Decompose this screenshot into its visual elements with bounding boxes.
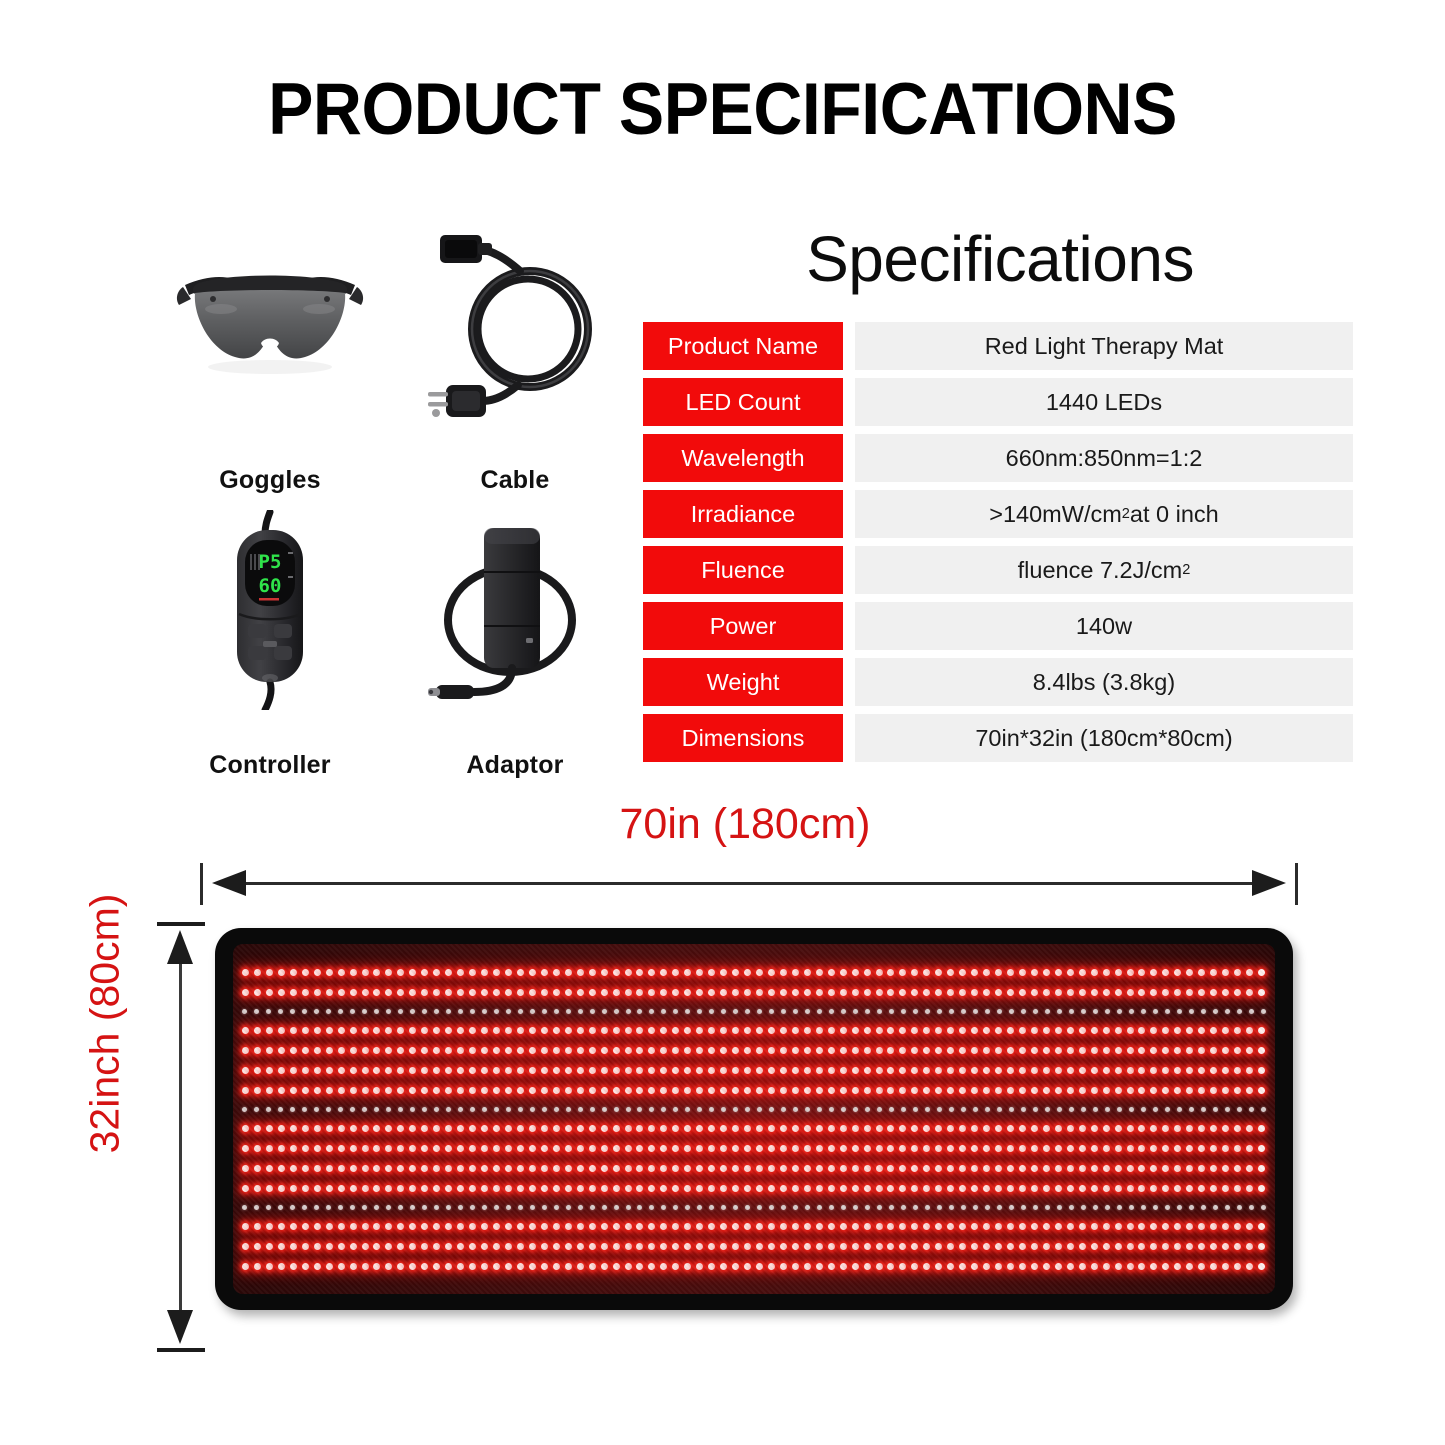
led-dot xyxy=(577,1125,584,1132)
led-dot xyxy=(1067,969,1074,976)
led-dot xyxy=(997,1009,1002,1014)
led-dot xyxy=(589,1165,596,1172)
led-dot xyxy=(278,1087,285,1094)
led-dot xyxy=(1174,989,1181,996)
led-dot xyxy=(1174,1263,1181,1270)
width-dimension-label: 70in (180cm) xyxy=(395,800,1095,849)
led-dot xyxy=(314,1067,321,1074)
led-dot xyxy=(1141,1205,1146,1210)
led-dot xyxy=(493,1243,500,1250)
led-dot xyxy=(1201,1205,1206,1210)
led-dot xyxy=(1081,1107,1086,1112)
led-dot xyxy=(1117,1107,1122,1112)
led-dot xyxy=(541,989,548,996)
led-dot xyxy=(290,1185,297,1192)
led-dot xyxy=(1138,1067,1145,1074)
led-dot xyxy=(302,1243,309,1250)
led-dot xyxy=(744,1027,751,1034)
led-dot xyxy=(660,1223,667,1230)
led-dot xyxy=(445,1165,452,1172)
led-dot xyxy=(660,1145,667,1152)
led-dot xyxy=(697,1107,702,1112)
led-dot xyxy=(434,1205,439,1210)
led-dot xyxy=(566,1009,571,1014)
led-dot xyxy=(1091,1243,1098,1250)
led-dot xyxy=(625,989,632,996)
led-dot xyxy=(553,1027,560,1034)
led-dot xyxy=(457,1047,464,1054)
led-dot xyxy=(433,969,440,976)
led-dot xyxy=(660,1047,667,1054)
led-dot xyxy=(828,1145,835,1152)
led-dot xyxy=(947,1027,954,1034)
led-dot xyxy=(768,969,775,976)
led-dot xyxy=(409,1027,416,1034)
led-dot xyxy=(242,1107,247,1112)
led-dot xyxy=(626,1205,631,1210)
led-dot xyxy=(1115,1027,1122,1034)
led-dot xyxy=(445,1067,452,1074)
accessory-label: Cable xyxy=(400,466,630,495)
led-dot xyxy=(685,1009,690,1014)
led-dot xyxy=(684,1027,691,1034)
led-dot xyxy=(899,1263,906,1270)
led-dot xyxy=(374,1009,379,1014)
led-dot xyxy=(865,1009,870,1014)
led-dot xyxy=(374,1107,379,1112)
led-dot xyxy=(493,1125,500,1132)
led-dot xyxy=(338,989,345,996)
led-dot xyxy=(565,969,572,976)
led-dot xyxy=(852,1223,859,1230)
led-dot xyxy=(290,1165,297,1172)
led-dot xyxy=(1198,1087,1205,1094)
led-dot xyxy=(1261,1107,1266,1112)
led-dot xyxy=(780,1027,787,1034)
led-dot xyxy=(876,1145,883,1152)
led-dot xyxy=(278,969,285,976)
led-dot xyxy=(829,1009,834,1014)
accessory-label: Controller xyxy=(155,751,385,780)
led-dot xyxy=(1103,1145,1110,1152)
led-dot xyxy=(816,989,823,996)
led-dot xyxy=(660,1087,667,1094)
led-dot xyxy=(385,969,392,976)
led-dot xyxy=(1115,989,1122,996)
led-dot xyxy=(421,1243,428,1250)
led-dot xyxy=(792,1027,799,1034)
led-dot xyxy=(1057,1009,1062,1014)
led-dot xyxy=(1186,1223,1193,1230)
led-dot xyxy=(696,1223,703,1230)
led-dot xyxy=(457,969,464,976)
led-dot xyxy=(1177,1107,1182,1112)
led-dot xyxy=(1258,1243,1265,1250)
led-dot xyxy=(816,1243,823,1250)
led-dot xyxy=(1079,989,1086,996)
led-dot xyxy=(601,1047,608,1054)
led-dot xyxy=(1067,1067,1074,1074)
led-dot xyxy=(254,969,261,976)
led-dot xyxy=(684,1125,691,1132)
led-dot xyxy=(458,1009,463,1014)
led-dot xyxy=(804,1125,811,1132)
led-dot xyxy=(397,1223,404,1230)
led-dot xyxy=(876,989,883,996)
led-dot xyxy=(625,1125,632,1132)
led-dot xyxy=(362,1243,369,1250)
led-dot xyxy=(1127,1165,1134,1172)
led-dot xyxy=(1249,1205,1254,1210)
led-dot xyxy=(636,1027,643,1034)
led-dot xyxy=(911,1185,918,1192)
led-dot xyxy=(362,1009,367,1014)
led-dot xyxy=(385,1243,392,1250)
led-dot xyxy=(350,1263,357,1270)
led-dot xyxy=(983,1067,990,1074)
led-dot xyxy=(1189,1009,1194,1014)
led-dot xyxy=(744,989,751,996)
dimension-tick-bottom xyxy=(157,1348,205,1352)
led-dot xyxy=(995,1243,1002,1250)
led-dot xyxy=(973,1009,978,1014)
led-dot xyxy=(899,1223,906,1230)
led-dot xyxy=(362,1145,369,1152)
led-dot xyxy=(373,969,380,976)
led-dot xyxy=(696,989,703,996)
led-dot xyxy=(709,1107,714,1112)
spec-key: Dimensions xyxy=(643,714,843,762)
led-dot xyxy=(565,1145,572,1152)
led-dot xyxy=(302,969,309,976)
led-dot xyxy=(1222,1185,1229,1192)
led-dot xyxy=(853,1107,858,1112)
led-dot xyxy=(421,1145,428,1152)
led-dot xyxy=(1174,1243,1181,1250)
led-dot xyxy=(660,969,667,976)
led-dot xyxy=(266,1107,271,1112)
led-dot xyxy=(338,1145,345,1152)
led-dot xyxy=(732,1027,739,1034)
led-dot xyxy=(302,1087,309,1094)
led-dot xyxy=(828,1047,835,1054)
led-dot xyxy=(1138,1185,1145,1192)
led-dot xyxy=(469,1145,476,1152)
led-dot xyxy=(1103,1223,1110,1230)
led-dot xyxy=(959,1263,966,1270)
led-dot xyxy=(1150,1223,1157,1230)
led-dot xyxy=(326,1027,333,1034)
led-dot xyxy=(1067,1243,1074,1250)
led-dot xyxy=(708,989,715,996)
led-dot xyxy=(1150,1243,1157,1250)
led-dot xyxy=(768,1223,775,1230)
led-dot xyxy=(469,1263,476,1270)
led-dot xyxy=(1234,1125,1241,1132)
led-dot xyxy=(553,1223,560,1230)
led-row-red xyxy=(233,1243,1275,1250)
led-dot xyxy=(756,1145,763,1152)
led-dot xyxy=(829,1205,834,1210)
led-dot xyxy=(422,1205,427,1210)
safety-goggles-icon xyxy=(155,225,385,425)
led-dot xyxy=(983,1145,990,1152)
led-dot xyxy=(732,969,739,976)
led-dot xyxy=(242,1027,249,1034)
led-dot xyxy=(708,1185,715,1192)
led-dot xyxy=(481,1165,488,1172)
led-dot xyxy=(433,1125,440,1132)
led-dot xyxy=(1198,969,1205,976)
led-dot xyxy=(1043,1263,1050,1270)
led-dot xyxy=(338,1067,345,1074)
led-dot xyxy=(314,1165,321,1172)
led-dot xyxy=(1210,1243,1217,1250)
led-dot xyxy=(445,1087,452,1094)
led-dot xyxy=(529,1263,536,1270)
led-dot xyxy=(1186,1145,1193,1152)
led-dot xyxy=(899,989,906,996)
led-dot xyxy=(1234,1145,1241,1152)
led-dot xyxy=(493,1263,500,1270)
led-dot xyxy=(1138,1047,1145,1054)
led-dot xyxy=(720,1087,727,1094)
led-dot xyxy=(995,1145,1002,1152)
spec-value: 8.4lbs (3.8kg) xyxy=(855,658,1353,706)
led-dot xyxy=(469,989,476,996)
led-dot xyxy=(672,1263,679,1270)
led-dot xyxy=(446,1107,451,1112)
led-dot xyxy=(242,1263,249,1270)
led-dot xyxy=(314,1263,321,1270)
led-dot xyxy=(278,989,285,996)
led-dot xyxy=(1055,1087,1062,1094)
led-dot xyxy=(421,1223,428,1230)
led-dot xyxy=(757,1009,762,1014)
led-dot xyxy=(421,1047,428,1054)
led-dot xyxy=(266,1009,271,1014)
led-dot xyxy=(493,1027,500,1034)
led-dot xyxy=(505,1223,512,1230)
led-dot xyxy=(937,1107,942,1112)
led-dot xyxy=(804,1165,811,1172)
led-dot xyxy=(493,1185,500,1192)
led-dot xyxy=(481,1145,488,1152)
led-dot xyxy=(362,1263,369,1270)
led-dot xyxy=(1117,1009,1122,1014)
led-dot xyxy=(470,1009,475,1014)
led-dot xyxy=(1222,1223,1229,1230)
led-row-red xyxy=(233,1047,1275,1054)
led-dot xyxy=(614,1205,619,1210)
led-dot xyxy=(696,1145,703,1152)
led-dot xyxy=(362,989,369,996)
led-dot xyxy=(530,1107,535,1112)
led-dot xyxy=(590,1009,595,1014)
led-dot xyxy=(911,1263,918,1270)
led-dot xyxy=(1210,1067,1217,1074)
led-dot xyxy=(1246,969,1253,976)
led-dot xyxy=(577,1145,584,1152)
led-dot xyxy=(1210,1125,1217,1132)
led-dot xyxy=(660,1027,667,1034)
led-dot xyxy=(841,1107,846,1112)
led-dot xyxy=(708,1027,715,1034)
led-dot xyxy=(780,989,787,996)
led-dot xyxy=(721,1009,726,1014)
led-dot xyxy=(1127,1027,1134,1034)
led-dot xyxy=(840,989,847,996)
led-dot xyxy=(326,1087,333,1094)
led-dot xyxy=(469,1223,476,1230)
led-dot xyxy=(864,1223,871,1230)
led-dot xyxy=(409,1125,416,1132)
led-dot xyxy=(1237,1009,1242,1014)
led-dot xyxy=(1186,1185,1193,1192)
led-dot xyxy=(935,1185,942,1192)
led-dot xyxy=(1198,1067,1205,1074)
led-dot xyxy=(529,1047,536,1054)
led-dot xyxy=(983,1027,990,1034)
led-dot xyxy=(1258,1145,1265,1152)
led-dot xyxy=(1246,1027,1253,1034)
led-dot xyxy=(684,1243,691,1250)
led-dot xyxy=(541,1165,548,1172)
led-dot xyxy=(314,1107,319,1112)
led-dot xyxy=(470,1107,475,1112)
led-dot xyxy=(290,1009,295,1014)
led-dot xyxy=(636,1145,643,1152)
led-dot xyxy=(1162,1067,1169,1074)
led-dot xyxy=(506,1009,511,1014)
led-dot xyxy=(290,1263,297,1270)
led-dot xyxy=(566,1107,571,1112)
led-dot xyxy=(995,1165,1002,1172)
led-dot xyxy=(409,1047,416,1054)
led-dot xyxy=(852,1047,859,1054)
led-dot xyxy=(553,1047,560,1054)
led-dot xyxy=(780,1087,787,1094)
led-dot xyxy=(1067,1165,1074,1172)
led-dot xyxy=(959,989,966,996)
led-dot xyxy=(1033,1107,1038,1112)
led-dot xyxy=(840,1165,847,1172)
led-dot xyxy=(314,1009,319,1014)
led-dot xyxy=(792,1165,799,1172)
led-dot xyxy=(529,1185,536,1192)
led-dot xyxy=(421,1087,428,1094)
led-dot xyxy=(1079,969,1086,976)
led-dot xyxy=(1043,1145,1050,1152)
led-dot xyxy=(864,1243,871,1250)
led-dot xyxy=(422,1107,427,1112)
led-dot xyxy=(421,969,428,976)
led-dot xyxy=(314,1087,321,1094)
led-dot xyxy=(494,1205,499,1210)
led-dot xyxy=(959,1067,966,1074)
led-dot xyxy=(373,1263,380,1270)
led-dot xyxy=(1079,1263,1086,1270)
led-dot xyxy=(1127,1047,1134,1054)
led-dot xyxy=(744,1145,751,1152)
led-dot xyxy=(732,1087,739,1094)
led-dot xyxy=(601,1087,608,1094)
led-dot xyxy=(613,1125,620,1132)
led-dot xyxy=(529,1145,536,1152)
led-dot xyxy=(887,1047,894,1054)
led-dot xyxy=(457,1027,464,1034)
led-dot xyxy=(398,1009,403,1014)
led-dot xyxy=(385,1047,392,1054)
led-dot xyxy=(876,1223,883,1230)
led-dot xyxy=(1091,969,1098,976)
led-dot xyxy=(577,1087,584,1094)
led-dot xyxy=(1007,1243,1014,1250)
led-dot xyxy=(314,1223,321,1230)
led-dot xyxy=(421,989,428,996)
led-dot xyxy=(350,1087,357,1094)
led-dot xyxy=(744,1243,751,1250)
led-dot xyxy=(685,1107,690,1112)
led-dot xyxy=(935,1067,942,1074)
led-dot xyxy=(373,1223,380,1230)
led-dot xyxy=(1031,969,1038,976)
led-dot xyxy=(756,1263,763,1270)
led-dot xyxy=(493,1145,500,1152)
led-dot xyxy=(529,1087,536,1094)
led-dot xyxy=(925,1107,930,1112)
led-dot xyxy=(1234,1067,1241,1074)
led-dot xyxy=(397,969,404,976)
led-dot xyxy=(720,1165,727,1172)
led-dot xyxy=(1093,1205,1098,1210)
led-dot xyxy=(1258,1223,1265,1230)
led-dot xyxy=(1031,1243,1038,1250)
led-dot xyxy=(493,1047,500,1054)
led-dot xyxy=(756,1087,763,1094)
led-dot xyxy=(911,1027,918,1034)
led-dot xyxy=(947,1145,954,1152)
led-dot xyxy=(1127,1263,1134,1270)
led-dot xyxy=(1103,1067,1110,1074)
led-dot xyxy=(1105,1107,1110,1112)
led-dot xyxy=(911,1165,918,1172)
led-dot xyxy=(1067,1185,1074,1192)
led-dot xyxy=(828,1243,835,1250)
led-dot xyxy=(481,1223,488,1230)
led-dot xyxy=(517,1145,524,1152)
led-dot xyxy=(720,1047,727,1054)
led-dot xyxy=(505,1145,512,1152)
led-dot xyxy=(362,1027,369,1034)
led-dot xyxy=(935,989,942,996)
led-dot xyxy=(995,1087,1002,1094)
page-title: PRODUCT SPECIFICATIONS xyxy=(51,68,1395,151)
led-dot xyxy=(529,969,536,976)
led-dot xyxy=(529,1027,536,1034)
led-dot xyxy=(804,1243,811,1250)
led-dot xyxy=(326,989,333,996)
led-dot xyxy=(1127,1223,1134,1230)
led-dot xyxy=(433,989,440,996)
led-dot xyxy=(697,1009,702,1014)
led-dot xyxy=(733,1009,738,1014)
led-dot xyxy=(901,1009,906,1014)
led-dot xyxy=(805,1205,810,1210)
led-dot xyxy=(660,1185,667,1192)
led-dot xyxy=(768,1145,775,1152)
led-dot xyxy=(780,969,787,976)
